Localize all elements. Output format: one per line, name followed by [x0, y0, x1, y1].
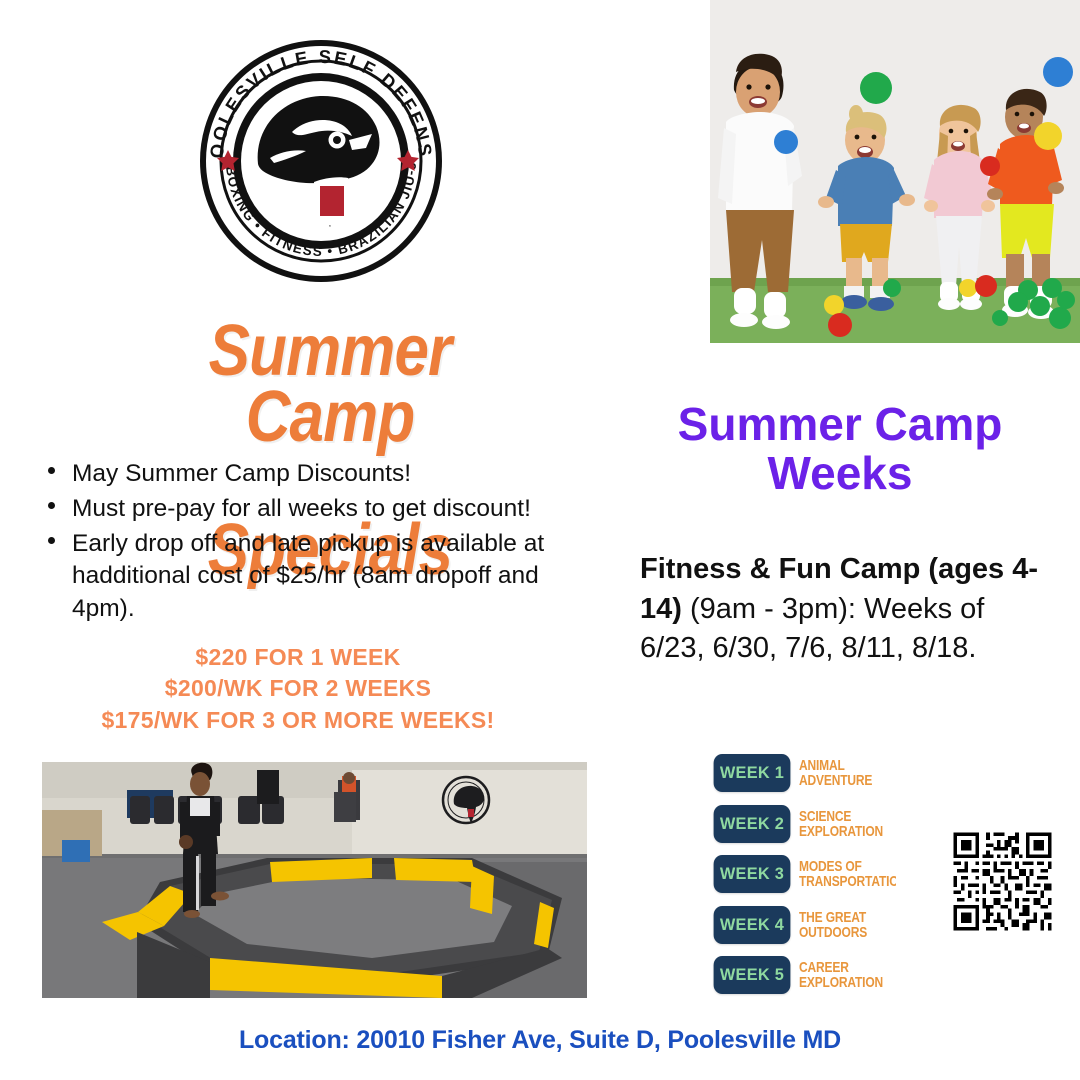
poolesville-self-defense-logo: POOLESVILLE SELF DEFENSE THAI BOXING • F…	[196, 36, 446, 286]
week-row: WEEK 5 CAREER EXPLORATION	[712, 954, 896, 996]
camp-name: Fitness & Fun Camp	[640, 553, 920, 585]
price-line-3: $175/WK FOR 3 OR MORE WEEKS!	[28, 705, 568, 736]
location-text: Location: 20010 Fisher Ave, Suite D, Poo…	[0, 1026, 1080, 1055]
week-theme-label: MODES OF TRANSPORTATION	[799, 859, 896, 889]
children-playing-photo	[710, 0, 1080, 343]
list-item: Must pre-pay for all weeks to get discou…	[72, 493, 602, 526]
list-item: May Summer Camp Discounts!	[72, 458, 602, 491]
week-theme-label: THE GREAT OUTDOORS	[799, 910, 877, 940]
week-theme-label: CAREER EXPLORATION	[799, 960, 883, 990]
week-row: WEEK 2 SCIENCE EXPLORATION	[712, 803, 896, 845]
summer-camp-weeks-title: Summer Camp Weeks	[640, 400, 1040, 498]
week-row: WEEK 4 THE GREAT OUTDOORS	[712, 904, 896, 946]
week-theme-label: ANIMAL ADVENTURE	[799, 758, 877, 788]
week-row: WEEK 1 ANIMAL ADVENTURE	[712, 752, 896, 794]
list-item-label: May Summer Camp Discounts!	[72, 460, 411, 487]
flyer-canvas: POOLESVILLE SELF DEFENSE THAI BOXING • F…	[0, 0, 1080, 1080]
camp-times-and-weeks: (9am - 3pm): Weeks of 6/23, 6/30, 7/6, 8…	[640, 593, 984, 665]
qr-code[interactable]	[950, 829, 1055, 934]
hawk-logo-icon: POOLESVILLE SELF DEFENSE THAI BOXING • F…	[196, 36, 446, 286]
ball-blue	[1043, 57, 1073, 87]
price-line-2: $200/WK FOR 2 WEEKS	[28, 673, 568, 704]
week-badge: WEEK 1	[714, 754, 791, 792]
list-item-label: Early drop off and late pickup is availa…	[72, 530, 544, 623]
bullet-dot-icon	[48, 467, 55, 474]
week-badge: WEEK 5	[714, 956, 791, 994]
weeks-title-line-2: Weeks	[640, 449, 1040, 498]
week-badge: WEEK 4	[714, 906, 791, 944]
gaga-ball-pit-photo	[42, 762, 587, 998]
week-row: WEEK 3 MODES OF TRANSPORTATION	[712, 853, 896, 895]
bullet-dot-icon	[48, 502, 55, 509]
ball-green	[860, 72, 892, 104]
price-line-1: $220 FOR 1 WEEK	[28, 642, 568, 673]
discount-bullet-list: May Summer Camp Discounts! Must pre-pay …	[38, 458, 602, 628]
headline-line-1: Summer Camp	[149, 318, 510, 450]
week-theme-label: SCIENCE EXPLORATION	[799, 809, 883, 839]
week-badge: WEEK 3	[714, 855, 791, 893]
camp-description: Fitness & Fun Camp (ages 4-14) (9am - 3p…	[640, 550, 1040, 669]
qr-code-icon	[950, 829, 1055, 934]
weeks-title-line-1: Summer Camp	[640, 400, 1040, 449]
list-item: Early drop off and late pickup is availa…	[72, 528, 602, 626]
week-badge: WEEK 2	[714, 805, 791, 843]
week-themes-graphic: WEEK 1 ANIMAL ADVENTURE WEEK 2 SCIENCE E…	[712, 752, 896, 1004]
bullet-dot-icon	[48, 537, 55, 544]
list-item-label: Must pre-pay for all weeks to get discou…	[72, 495, 531, 522]
pricing-block: $220 FOR 1 WEEK $200/WK FOR 2 WEEKS $175…	[28, 642, 568, 736]
